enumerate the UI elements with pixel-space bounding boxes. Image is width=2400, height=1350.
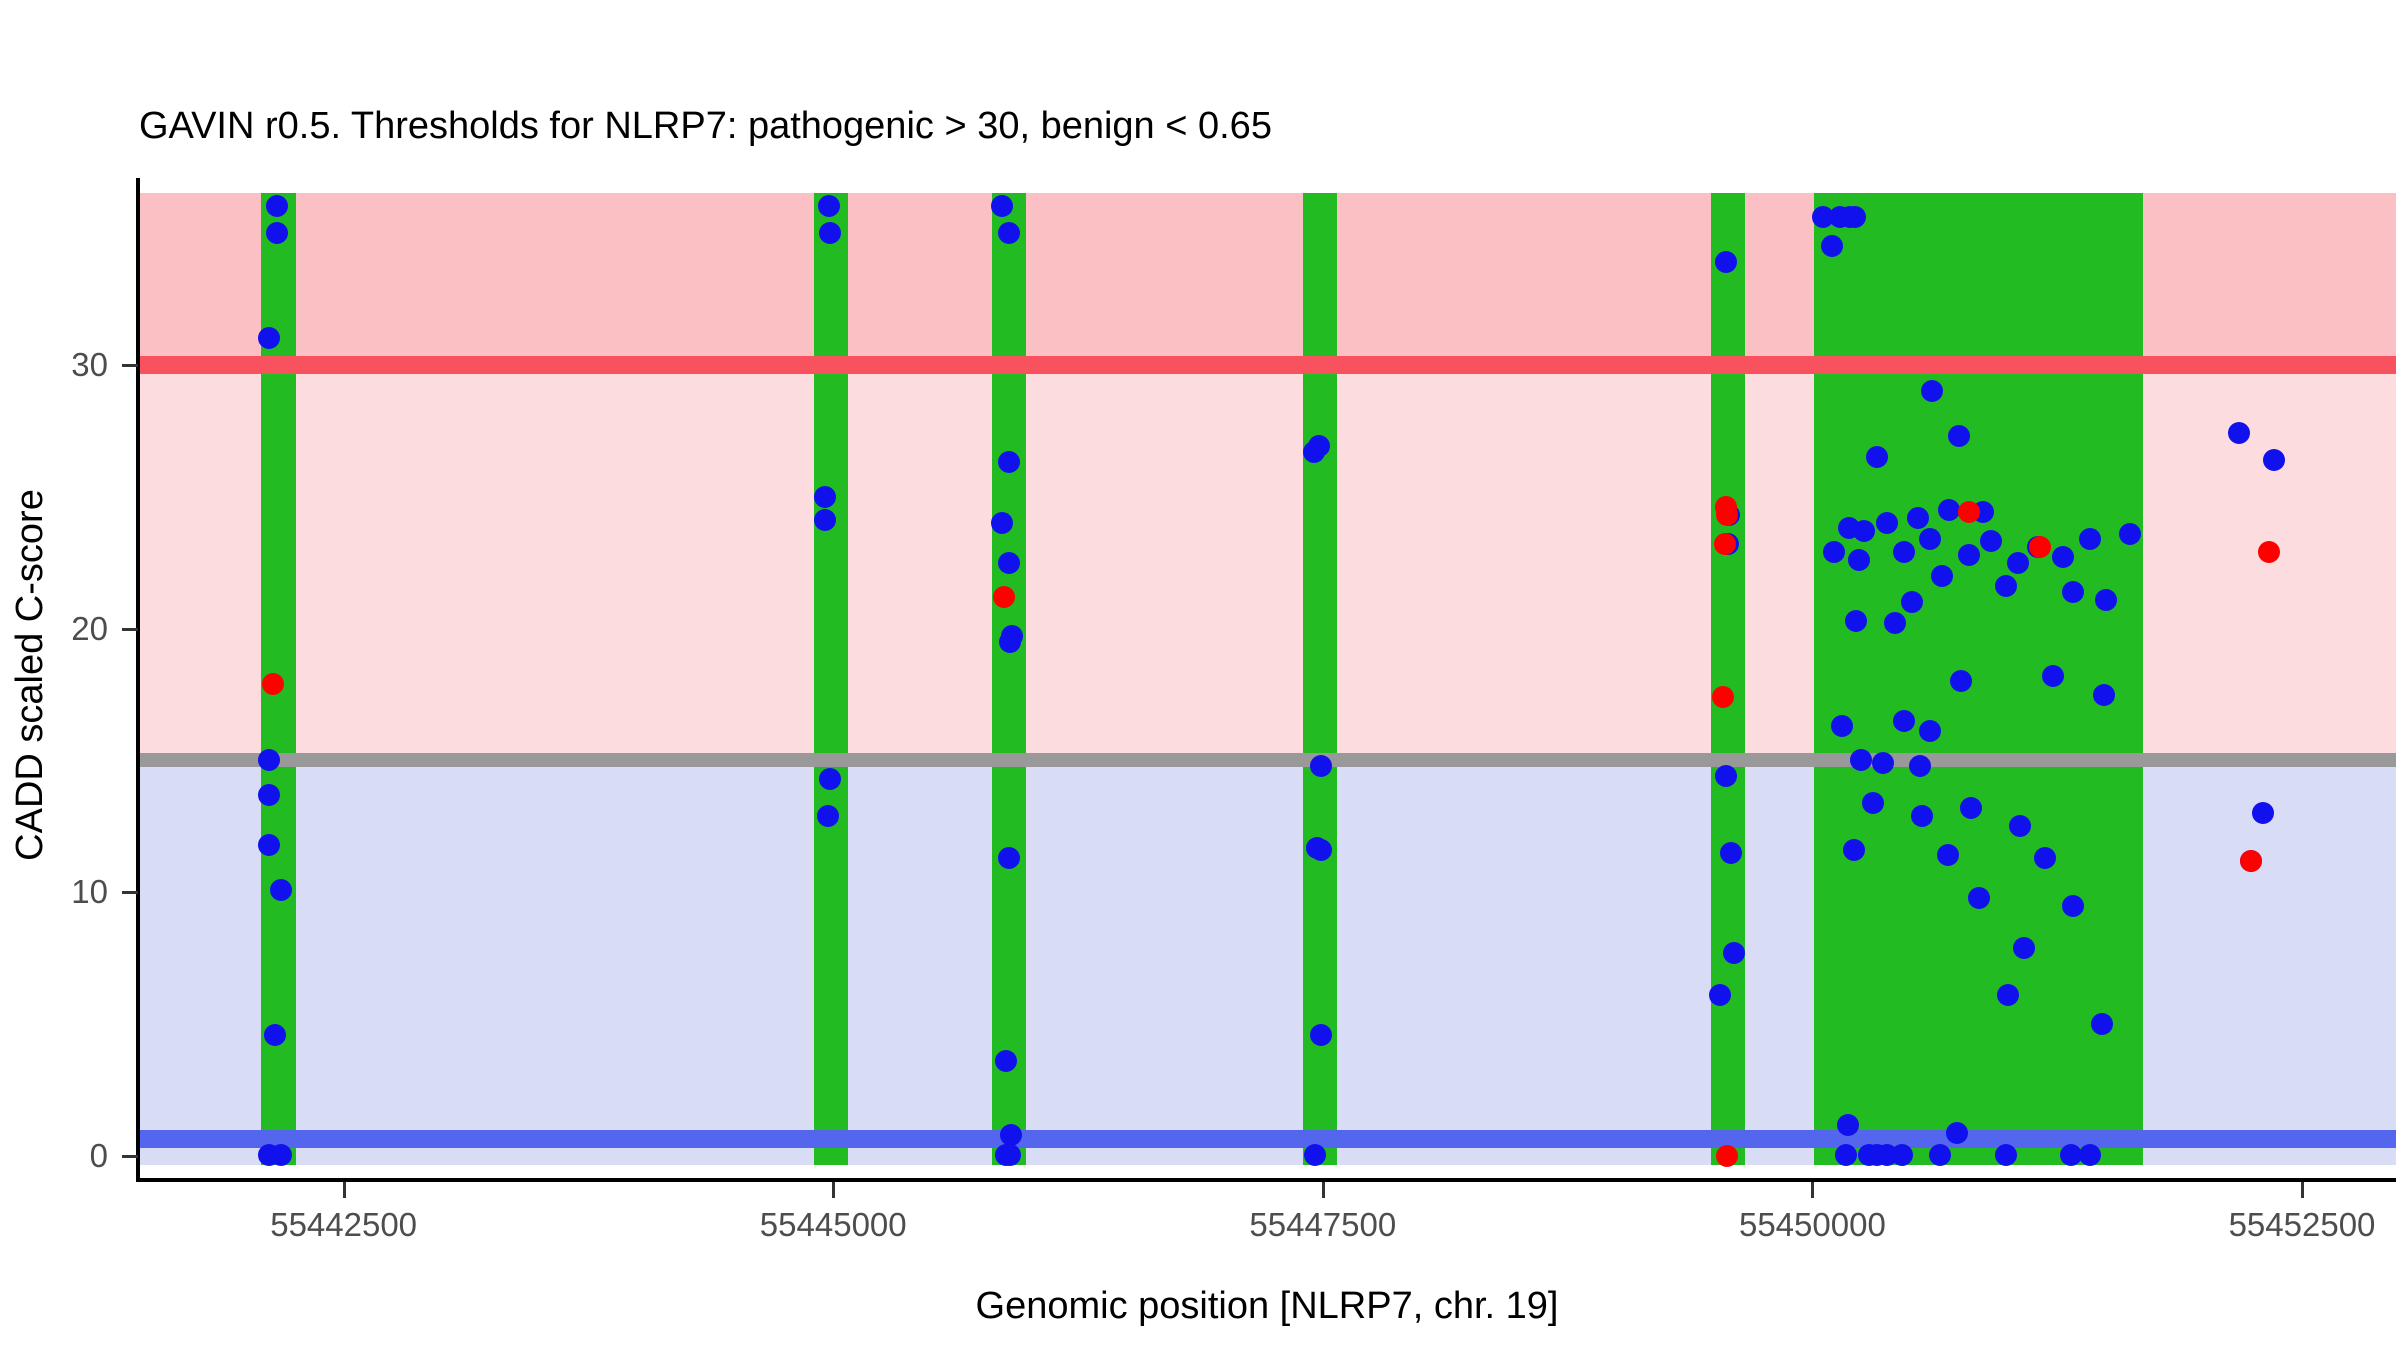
gnomad-point — [1715, 251, 1737, 273]
gnomad-point — [1821, 235, 1843, 257]
gnomad-point — [1995, 1144, 2017, 1166]
gnomad-point — [264, 1024, 286, 1046]
x-tick-label-55447500: 55447500 — [1249, 1206, 1396, 1244]
gnomad-point — [1929, 1144, 1951, 1166]
gnomad-point — [1876, 512, 1898, 534]
clinvar-point — [2240, 850, 2262, 872]
gnomad-point — [1893, 710, 1915, 732]
gnomad-point — [1901, 591, 1923, 613]
exon-5 — [1711, 193, 1745, 1165]
gnomad-point — [1921, 380, 1943, 402]
gnomad-point — [1723, 942, 1745, 964]
gnomad-point — [2042, 665, 2064, 687]
clinvar-point — [993, 586, 1015, 608]
x-tick-55450000 — [1811, 1182, 1814, 1198]
gnomad-point — [2119, 523, 2141, 545]
gnomad-point — [1823, 541, 1845, 563]
x-tick-label-55442500: 55442500 — [270, 1206, 417, 1244]
x-tick-label-55452500: 55452500 — [2229, 1206, 2376, 1244]
y-tick-0 — [122, 1155, 138, 1158]
gnomad-point — [2263, 449, 2285, 471]
plot-panel — [138, 180, 2396, 1180]
x-tick-55447500 — [1322, 1182, 1325, 1198]
gnomad-point — [991, 512, 1013, 534]
threshold-line-benign — [138, 1130, 2396, 1148]
gnomad-point — [998, 552, 1020, 574]
gnomad-point — [1310, 839, 1332, 861]
gnomad-point — [1950, 670, 1972, 692]
gnomad-point — [1931, 565, 1953, 587]
gnomad-point — [1919, 720, 1941, 742]
clinvar-point — [1714, 533, 1736, 555]
gnomad-point — [1835, 1144, 1857, 1166]
gnomad-point — [1862, 792, 1884, 814]
x-tick-55445000 — [832, 1182, 835, 1198]
gnomad-point — [818, 195, 840, 217]
gnomad-point — [1303, 441, 1325, 463]
gnomad-point — [258, 749, 280, 771]
gnomad-point — [1709, 984, 1731, 1006]
gnomad-point — [1968, 887, 1990, 909]
gnomad-point — [2079, 528, 2101, 550]
gnomad-point — [1310, 1024, 1332, 1046]
gnomad-point — [1000, 1124, 1022, 1146]
gnomad-point — [1909, 755, 1931, 777]
threshold-line-genome-wide-fallback — [138, 753, 2396, 767]
clinvar-point — [1716, 1145, 1738, 1167]
gnomad-point — [1919, 528, 1941, 550]
chart-root: GAVIN r0.5. Thresholds for NLRP7: pathog… — [0, 0, 2400, 1350]
gnomad-point — [1845, 610, 1867, 632]
gnomad-point — [1837, 1114, 1859, 1136]
exon-3 — [992, 193, 1026, 1165]
gnomad-point — [2252, 802, 2274, 824]
y-tick-label-10: 10 — [8, 873, 108, 911]
gnomad-point — [819, 768, 841, 790]
gnomad-point — [1958, 544, 1980, 566]
gnomad-point — [1850, 749, 1872, 771]
gnomad-point — [817, 805, 839, 827]
gnomad-point — [270, 879, 292, 901]
gnomad-point — [1960, 797, 1982, 819]
clinvar-point — [262, 673, 284, 695]
gnomad-point — [1843, 839, 1865, 861]
gnomad-point — [995, 1050, 1017, 1072]
gnomad-point — [258, 834, 280, 856]
gnomad-point — [1866, 446, 1888, 468]
gnomad-point — [1907, 507, 1929, 529]
gnomad-point — [2062, 895, 2084, 917]
gnomad-point — [266, 195, 288, 217]
gnomad-point — [1844, 206, 1866, 228]
gnomad-point — [270, 1144, 292, 1166]
gnomad-point — [1720, 842, 1742, 864]
gnomad-point — [999, 631, 1021, 653]
gnomad-point — [1937, 844, 1959, 866]
y-axis-line — [136, 178, 140, 1182]
gnomad-point — [991, 195, 1013, 217]
gnomad-point — [1946, 1122, 1968, 1144]
gnomad-point — [2093, 684, 2115, 706]
gnomad-point — [814, 509, 836, 531]
clinvar-point — [1716, 504, 1738, 526]
gnomad-point — [2009, 815, 2031, 837]
y-tick-10 — [122, 891, 138, 894]
gnomad-point — [1715, 765, 1737, 787]
exon-2 — [814, 193, 848, 1165]
gnomad-point — [2007, 552, 2029, 574]
x-tick-label-55445000: 55445000 — [760, 1206, 907, 1244]
clinvar-point — [2258, 541, 2280, 563]
gnomad-point — [1948, 425, 1970, 447]
y-tick-label-20: 20 — [8, 610, 108, 648]
gnomad-point — [1831, 715, 1853, 737]
gnomad-point — [1938, 499, 1960, 521]
gnomad-point — [1911, 805, 1933, 827]
x-tick-label-55450000: 55450000 — [1739, 1206, 1886, 1244]
gnomad-point — [1997, 984, 2019, 1006]
gnomad-point — [1980, 530, 2002, 552]
gnomad-point — [1884, 612, 1906, 634]
x-axis-line — [136, 1178, 2396, 1182]
x-tick-55442500 — [343, 1182, 346, 1198]
gnomad-point — [2228, 422, 2250, 444]
threshold-line-pathogenic — [138, 356, 2396, 374]
clinvar-point — [1958, 501, 1980, 523]
exon-4 — [1303, 193, 1337, 1165]
gnomad-point — [814, 486, 836, 508]
y-tick-30 — [122, 364, 138, 367]
gnomad-point — [2052, 546, 2074, 568]
gnomad-point — [2079, 1144, 2101, 1166]
gnomad-point — [1304, 1144, 1326, 1166]
title-line-1: GAVIN r0.5. Thresholds for NLRP7: pathog… — [139, 102, 2339, 150]
x-tick-55452500 — [2301, 1182, 2304, 1198]
x-axis-label: Genomic position [NLRP7, chr. 19] — [138, 1278, 2396, 1334]
gnomad-point — [266, 222, 288, 244]
gnomad-point — [1893, 541, 1915, 563]
gnomad-point — [998, 847, 1020, 869]
gnomad-point — [1848, 549, 1870, 571]
gnomad-point — [998, 222, 1020, 244]
gnomad-point — [1872, 752, 1894, 774]
gnomad-point — [1310, 755, 1332, 777]
y-tick-label-30: 30 — [8, 346, 108, 384]
gnomad-point — [2091, 1013, 2113, 1035]
y-tick-20 — [122, 628, 138, 631]
y-tick-label-0: 0 — [8, 1137, 108, 1175]
gnomad-point — [1995, 575, 2017, 597]
gnomad-point — [1891, 1144, 1913, 1166]
gnomad-point — [258, 784, 280, 806]
gnomad-point — [998, 451, 1020, 473]
clinvar-point — [2029, 536, 2051, 558]
gnomad-point — [258, 327, 280, 349]
gnomad-point — [819, 222, 841, 244]
gnomad-point — [2034, 847, 2056, 869]
gnomad-point — [2095, 589, 2117, 611]
gnomad-point — [1853, 520, 1875, 542]
gnomad-point — [999, 1144, 1021, 1166]
clinvar-point — [1712, 686, 1734, 708]
gnomad-point — [2062, 581, 2084, 603]
gnomad-point — [2013, 937, 2035, 959]
